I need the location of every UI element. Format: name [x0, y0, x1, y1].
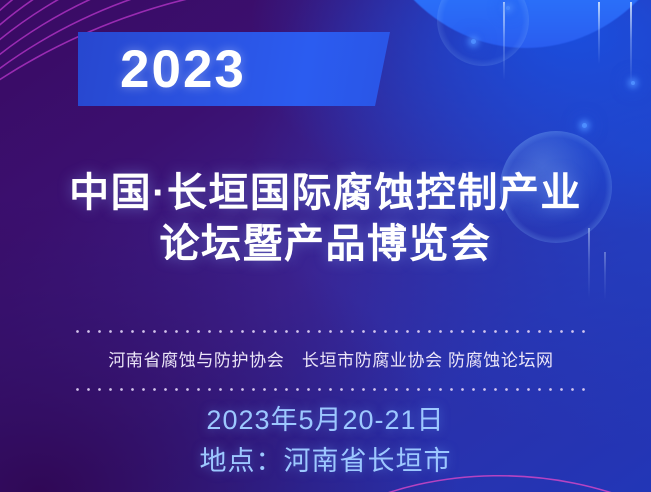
glow-dot: [582, 123, 587, 128]
year-label: 2023: [120, 43, 246, 96]
event-place: 地点：河南省长垣市: [0, 446, 651, 477]
title-line-1: 中国·长垣国际腐蚀控制产业: [0, 168, 651, 219]
organizers-block: 河南省腐蚀与防护协会 长垣市防腐业协会 防腐蚀论坛网: [72, 327, 590, 394]
year-badge: 2023: [78, 32, 390, 106]
event-poster: 2023 中国·长垣国际腐蚀控制产业 论坛暨产品博览会 河南省腐蚀与防护协会 长…: [0, 0, 651, 492]
light-streak: [503, 2, 505, 80]
event-meta: 2023年5月20-21日 地点：河南省长垣市: [0, 405, 651, 477]
light-streak: [630, 2, 632, 86]
title-line-2: 论坛暨产品博览会: [0, 219, 651, 270]
glow-dot: [471, 39, 476, 44]
dotted-divider-bottom: [72, 385, 590, 394]
glow-ring-icon: [437, 0, 529, 66]
organizers-text: 河南省腐蚀与防护协会 长垣市防腐业协会 防腐蚀论坛网: [72, 336, 590, 385]
glow-dot: [506, 6, 510, 10]
event-date: 2023年5月20-21日: [0, 405, 651, 436]
glow-dot: [631, 81, 635, 85]
dotted-divider-top: [72, 327, 590, 336]
light-streak: [598, 2, 600, 64]
page-title: 中国·长垣国际腐蚀控制产业 论坛暨产品博览会: [0, 168, 651, 270]
blue-dome-decoration: [361, 0, 651, 48]
